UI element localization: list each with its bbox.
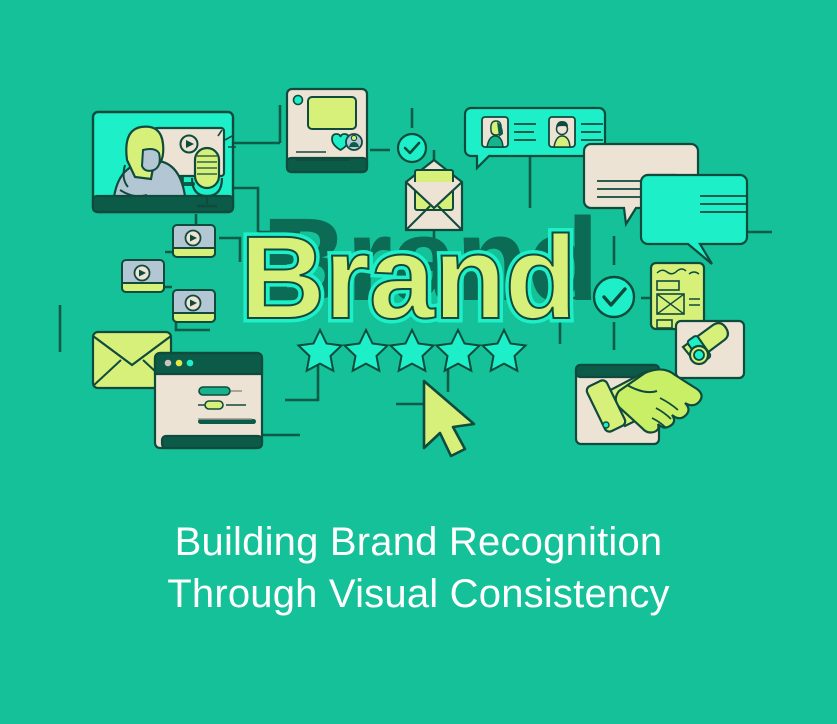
video-call-card bbox=[93, 112, 236, 212]
social-post-card bbox=[287, 89, 367, 172]
browser-window bbox=[155, 353, 262, 448]
page-title: Building Brand Recognition Through Visua… bbox=[0, 516, 837, 620]
check-badge-small bbox=[398, 134, 426, 162]
video-thumb-2 bbox=[122, 260, 164, 292]
poster-canvas: Brand Brand Brand Building Brand Recogni… bbox=[0, 0, 837, 724]
handshake-icon bbox=[576, 321, 744, 444]
page-title-line-1: Building Brand Recognition bbox=[0, 516, 837, 568]
avatar bbox=[346, 134, 362, 150]
check-badge-large bbox=[594, 277, 634, 317]
video-thumb-1 bbox=[173, 225, 215, 257]
page-title-line-2: Through Visual Consistency bbox=[0, 568, 837, 620]
video-thumb-3 bbox=[173, 290, 215, 322]
wireframe-card bbox=[651, 263, 704, 329]
chat-bubble-cyan bbox=[641, 175, 748, 264]
brand-wordmark: Brand Brand Brand bbox=[240, 194, 598, 344]
brand-wordmark-text: Brand bbox=[240, 212, 576, 344]
brand-illustration: Brand Brand Brand bbox=[0, 0, 837, 500]
cursor-icon bbox=[424, 381, 474, 456]
